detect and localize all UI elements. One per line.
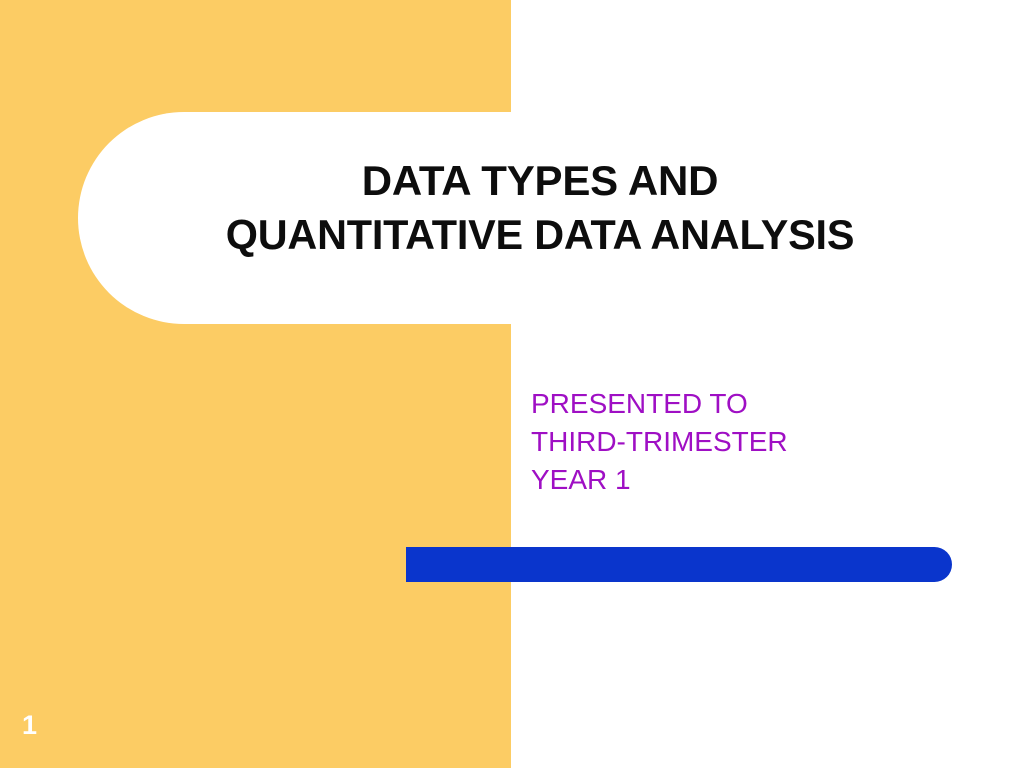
title-line-1: DATA TYPES AND bbox=[90, 154, 990, 208]
subtitle-line-3: YEAR 1 bbox=[531, 461, 931, 499]
title-line-2: QUANTITATIVE DATA ANALYSIS bbox=[97, 208, 984, 262]
slide-subtitle: PRESENTED TO THIRD-TRIMESTER YEAR 1 bbox=[531, 385, 931, 499]
presentation-slide: DATA TYPES AND QUANTITATIVE DATA ANALYSI… bbox=[0, 0, 1024, 768]
slide-title: DATA TYPES AND QUANTITATIVE DATA ANALYSI… bbox=[90, 154, 990, 262]
slide-number: 1 bbox=[22, 709, 37, 741]
accent-bar-shape bbox=[406, 547, 952, 582]
subtitle-line-1: PRESENTED TO bbox=[531, 385, 931, 423]
subtitle-line-2: THIRD-TRIMESTER bbox=[531, 423, 931, 461]
